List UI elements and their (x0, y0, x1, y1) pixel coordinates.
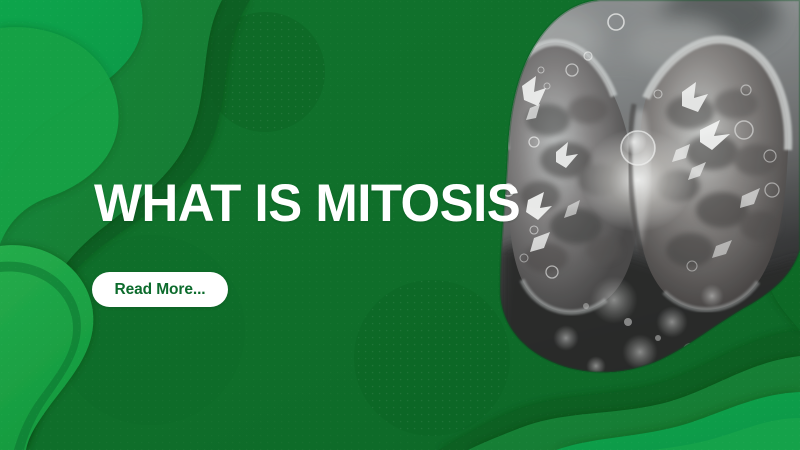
image-alt-text: Grayscale microscope photograph of a cel… (0, 0, 1, 1)
page-title: WHAT IS MITOSIS (94, 176, 520, 232)
read-more-button[interactable]: Read More... (92, 272, 228, 307)
promo-banner: WHAT IS MITOSIS Read More... Grayscale m… (0, 0, 800, 450)
banner-content: WHAT IS MITOSIS Read More... Grayscale m… (0, 0, 800, 450)
